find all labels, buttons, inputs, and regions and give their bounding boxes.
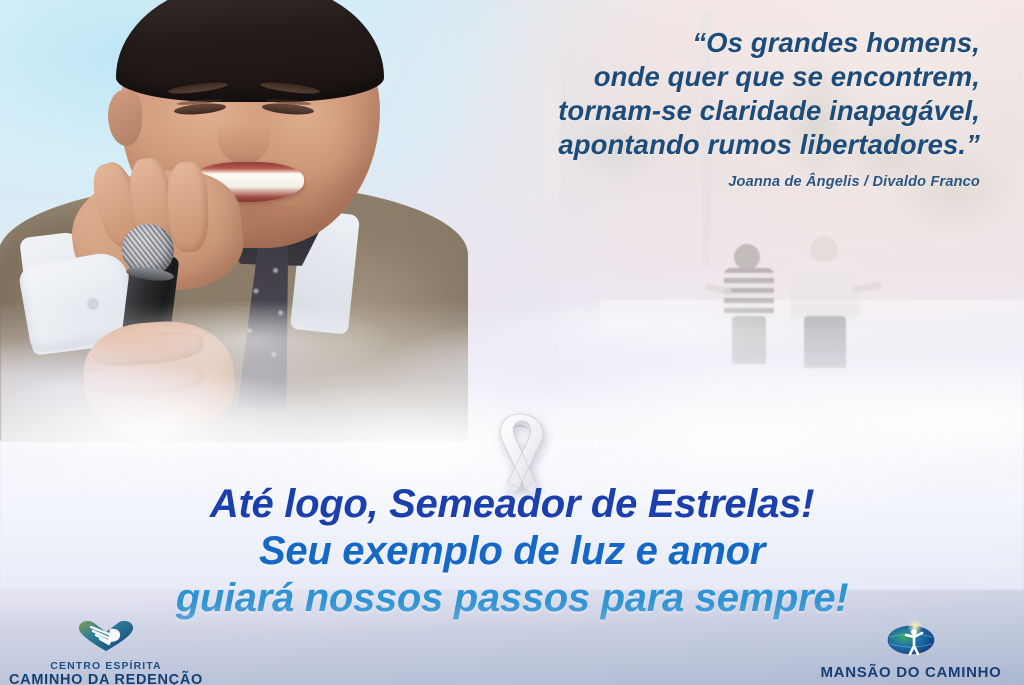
quote-block: “Os grandes homens, onde quer que se enc…	[280, 26, 980, 190]
child-legs	[732, 316, 766, 364]
quote-attribution: Joanna de Ângelis / Divaldo Franco	[280, 174, 980, 190]
headline-line-2: Seu exemplo de luz e amor	[0, 531, 1024, 572]
quote-line-4: apontando rumos libertadores.”	[280, 128, 980, 162]
background-figure-adult	[790, 236, 860, 368]
headline-line-1: Até logo, Semeador de Estrelas!	[0, 484, 1024, 525]
adult-legs	[804, 316, 846, 368]
globe-figure-icon	[806, 618, 1016, 661]
subject-ear	[108, 90, 142, 146]
background-figure-child	[722, 244, 776, 364]
subject-finger-3	[166, 161, 209, 252]
headline-block: Até logo, Semeador de Estrelas! Seu exem…	[0, 484, 1024, 618]
memorial-poster: “Os grandes homens, onde quer que se enc…	[0, 0, 1024, 685]
quote-line-3: tornam-se claridade inapagável,	[280, 94, 980, 128]
child-head	[734, 244, 760, 270]
logo-centro-espirita[interactable]: CENTRO ESPÍRITA CAMINHO DA REDENÇÃO	[8, 618, 204, 685]
headline-line-3: guiará nossos passos para sempre!	[0, 578, 1024, 619]
adult-shirt	[790, 262, 860, 318]
adult-head	[810, 236, 838, 264]
quote-line-1: “Os grandes homens,	[280, 26, 980, 60]
logo-left-line-1: CENTRO ESPÍRITA	[8, 660, 204, 672]
logo-left-line-2: CAMINHO DA REDENÇÃO	[8, 672, 204, 685]
heart-hands-icon	[8, 618, 204, 657]
logo-right-line-1: MANSÃO DO CAMINHO	[806, 664, 1016, 681]
logo-mansao-do-caminho[interactable]: MANSÃO DO CAMINHO	[806, 618, 1016, 681]
subject-cuff-button	[88, 298, 98, 308]
subject-nose	[218, 114, 270, 164]
child-striped-shirt	[724, 268, 774, 318]
quote-line-2: onde quer que se encontrem,	[280, 60, 980, 94]
